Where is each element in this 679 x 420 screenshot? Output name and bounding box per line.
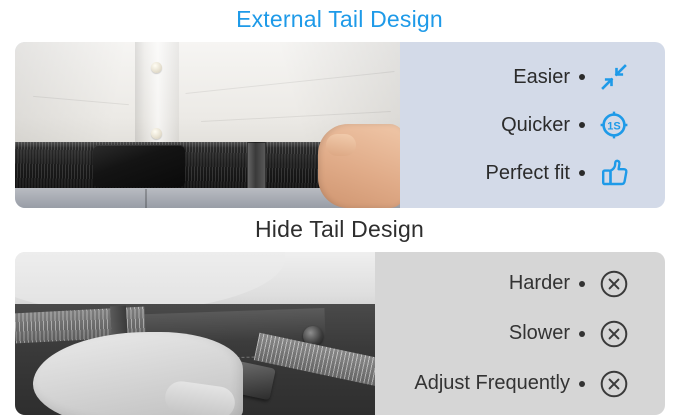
feature-row: Quicker 1S bbox=[400, 108, 631, 142]
section-heading-hide-tail: Hide Tail Design bbox=[0, 216, 679, 243]
section-heading-external-tail: External Tail Design bbox=[0, 6, 679, 33]
thumb bbox=[326, 134, 356, 156]
bullet-dot bbox=[579, 281, 585, 287]
photo-external-tail-belt bbox=[15, 42, 400, 208]
x-circle-icon bbox=[597, 367, 631, 401]
feature-row: Harder bbox=[375, 267, 631, 301]
feature-label-perfect-fit: Perfect fit bbox=[486, 162, 570, 185]
panel-hide-tail: Harder Slower bbox=[15, 252, 665, 415]
jeans-seam bbox=[145, 189, 147, 208]
feature-row: Easier bbox=[400, 60, 631, 94]
feature-label-quicker: Quicker bbox=[501, 114, 570, 137]
photo-hide-tail-belt bbox=[15, 252, 375, 415]
one-second-timer-icon: 1S bbox=[597, 108, 631, 142]
compress-arrows-icon bbox=[597, 60, 631, 94]
feature-list-external-tail: Easier Quicker bbox=[400, 42, 665, 208]
belt-buckle bbox=[93, 145, 185, 187]
x-circle-icon bbox=[597, 317, 631, 351]
bullet-dot bbox=[579, 122, 585, 128]
bullet-dot bbox=[579, 170, 585, 176]
feature-row: Perfect fit bbox=[400, 156, 631, 190]
feature-label-adjust-frequently: Adjust Frequently bbox=[414, 372, 570, 395]
shirt-button bbox=[151, 62, 162, 73]
feature-row: Slower bbox=[375, 317, 631, 351]
comparison-graphic: External Tail Design Easier bbox=[0, 0, 679, 420]
feature-label-easier: Easier bbox=[513, 66, 570, 89]
x-circle-icon bbox=[597, 267, 631, 301]
thumbs-up-icon bbox=[597, 156, 631, 190]
feature-row: Adjust Frequently bbox=[375, 367, 631, 401]
timer-value-text: 1S bbox=[607, 120, 620, 132]
feature-label-slower: Slower bbox=[509, 322, 570, 345]
feature-list-hide-tail: Harder Slower bbox=[375, 252, 665, 415]
bullet-dot bbox=[579, 381, 585, 387]
belt-keeper-loop bbox=[247, 142, 266, 190]
panel-external-tail: Easier Quicker bbox=[15, 42, 665, 208]
bullet-dot bbox=[579, 331, 585, 337]
shirt-button bbox=[151, 128, 162, 139]
bullet-dot bbox=[579, 74, 585, 80]
feature-label-harder: Harder bbox=[509, 272, 570, 295]
